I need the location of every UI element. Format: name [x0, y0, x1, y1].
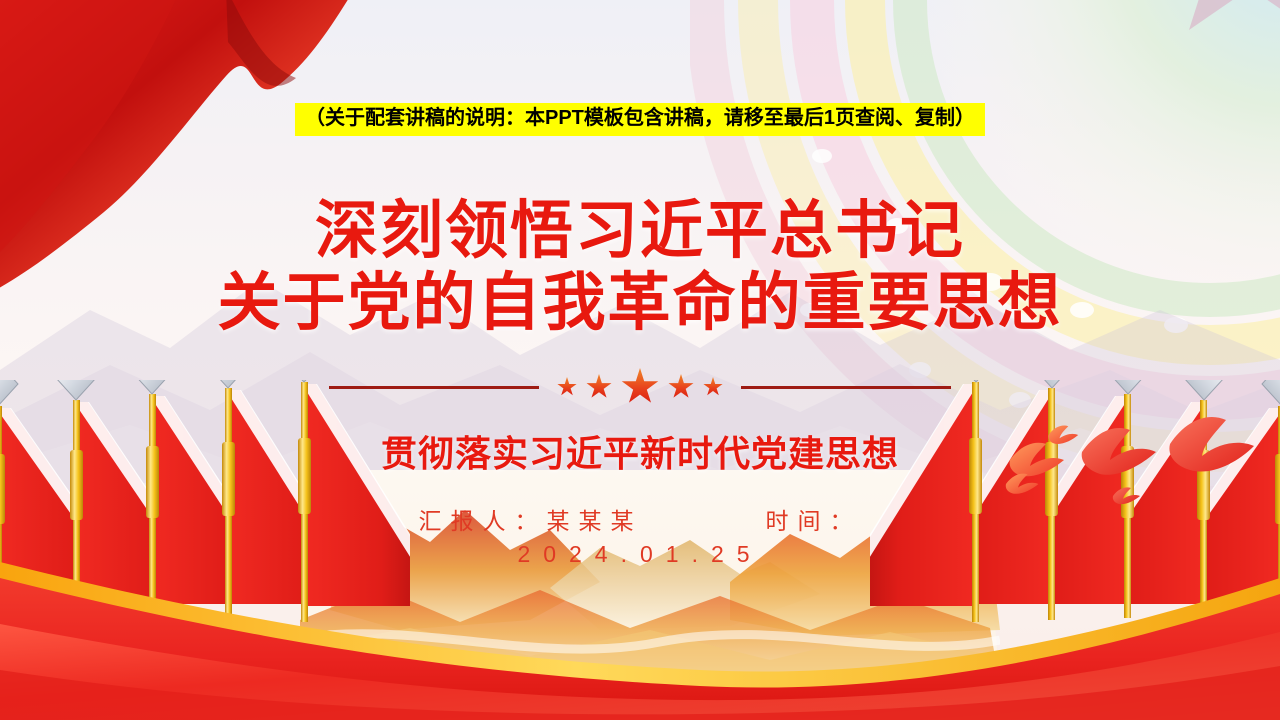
presentation-slide: （关于配套讲稿的说明：本PPT模板包含讲稿，请移至最后1页查阅、复制） 深刻领悟…	[0, 0, 1280, 720]
star-icon-4	[668, 374, 694, 400]
star-icon-1	[557, 377, 577, 397]
corner-star-icon	[1153, 0, 1280, 30]
presenter-line: 汇报人：某某某 时间：	[0, 505, 1280, 538]
meta-block: 汇报人：某某某 时间： 2024.01.25	[0, 505, 1280, 570]
divider-rule-right	[741, 386, 951, 389]
page-title: 深刻领悟习近平总书记 关于党的自我革命的重要思想	[0, 196, 1280, 340]
star-row	[557, 368, 723, 406]
star-icon-2	[586, 374, 612, 400]
subtitle: 贯彻落实习近平新时代党建思想	[0, 425, 1280, 477]
date-line: 2024.01.25	[0, 538, 1280, 571]
golden-mountain-landscape	[300, 470, 1000, 685]
title-line-1: 深刻领悟习近平总书记	[0, 196, 1280, 268]
star-icon-3	[621, 368, 659, 406]
divider-rule-left	[329, 386, 539, 389]
notice-banner: （关于配套讲稿的说明：本PPT模板包含讲稿，请移至最后1页查阅、复制）	[295, 103, 985, 136]
title-line-2: 关于党的自我革命的重要思想	[0, 268, 1280, 340]
star-divider	[0, 368, 1280, 406]
star-icon-5	[703, 377, 723, 397]
